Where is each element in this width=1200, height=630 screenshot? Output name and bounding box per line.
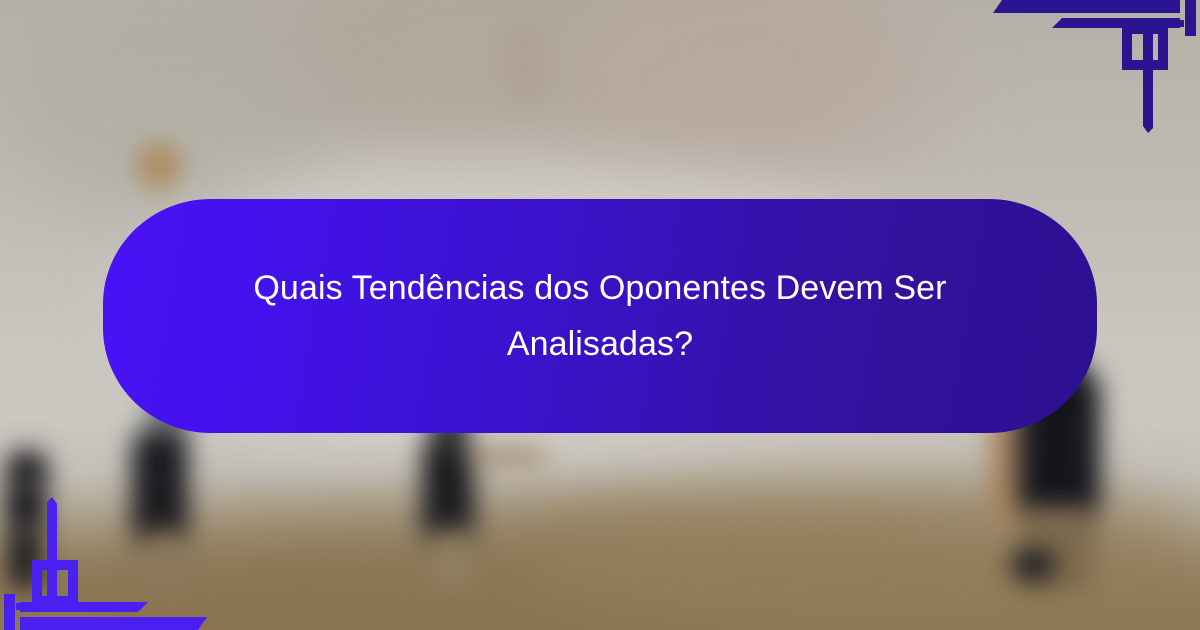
background-player-figure <box>468 448 546 464</box>
background-net-post-blur <box>508 20 542 110</box>
share-card-canvas: Quais Tendências dos Oponentes Devem Ser… <box>0 0 1200 630</box>
background-player-figure <box>422 438 474 544</box>
background-ball-blur <box>135 142 183 190</box>
corner-ornament-top-right-icon <box>980 0 1200 150</box>
background-player-figure <box>1012 550 1054 580</box>
headline-pill: Quais Tendências dos Oponentes Devem Ser… <box>103 199 1097 433</box>
page-title: Quais Tendências dos Oponentes Devem Ser… <box>210 260 990 372</box>
background-player-figure <box>430 530 474 590</box>
corner-ornament-bottom-left-icon <box>0 480 220 630</box>
